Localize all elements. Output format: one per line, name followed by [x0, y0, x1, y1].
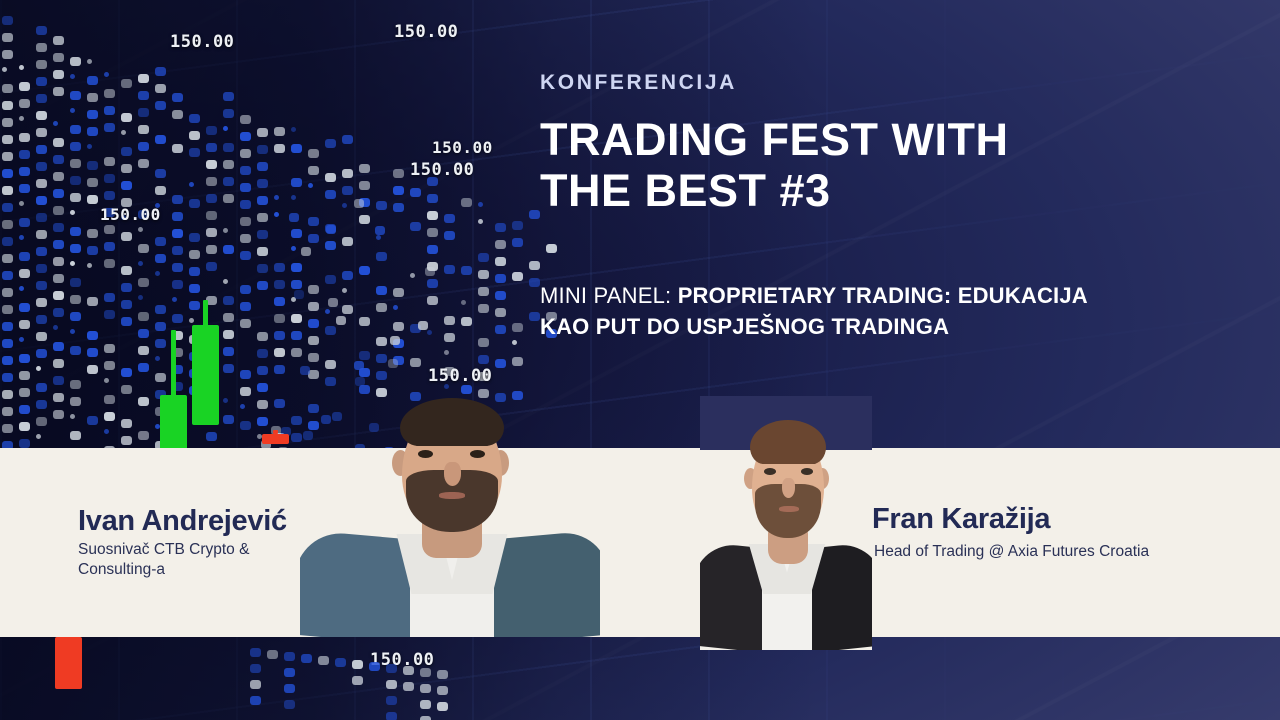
chart-dot: [104, 89, 115, 98]
candlestick-body: [55, 637, 82, 689]
chart-dot: [36, 213, 47, 222]
chart-dot: [53, 308, 64, 317]
chart-dot: [274, 348, 285, 357]
chart-dot: [257, 383, 268, 392]
chart-dot: [376, 354, 387, 363]
chart-dot: [19, 201, 24, 206]
chart-dot: [87, 229, 98, 238]
chart-dot: [172, 110, 183, 119]
chart-dot: [87, 110, 98, 119]
chart-dot: [155, 373, 166, 382]
chart-dot: [478, 355, 489, 364]
chart-dot: [420, 700, 431, 709]
chart-dot: [325, 360, 336, 369]
chart-dot: [172, 314, 183, 323]
headline-block: KONFERENCIJA TRADING FEST WITH THE BEST …: [540, 72, 1230, 217]
chart-dot: [478, 202, 483, 207]
chart-dot: [87, 263, 92, 268]
chart-dot: [70, 227, 81, 236]
chart-dot: [70, 125, 81, 134]
chart-dot: [291, 280, 302, 289]
chart-dot: [87, 195, 98, 204]
panel-label: MINI PANEL:: [540, 283, 671, 308]
chart-dot: [427, 228, 438, 237]
chart-dot: [138, 108, 149, 117]
chart-dot: [155, 135, 166, 144]
chart-dot: [53, 87, 64, 96]
chart-dot: [138, 295, 143, 300]
chart-dot: [138, 278, 149, 287]
chart-dot: [19, 65, 24, 70]
chart-dot: [172, 195, 183, 204]
chart-dot: [36, 383, 47, 392]
chart-dot: [121, 79, 132, 88]
chart-dot: [325, 139, 336, 148]
chart-dot: [138, 125, 149, 134]
chart-dot: [308, 183, 313, 188]
chart-dot: [36, 349, 47, 358]
chart-dot: [325, 241, 336, 250]
chart-dot: [257, 366, 268, 375]
chart-dot: [155, 84, 166, 93]
chart-dot: [36, 264, 47, 273]
chart-dot: [257, 417, 268, 426]
chart-dot: [53, 223, 64, 232]
chart-dot: [420, 716, 431, 720]
chart-dot: [206, 262, 217, 271]
chart-dot: [104, 174, 115, 183]
chart-dot: [53, 342, 64, 351]
chart-dot: [138, 227, 143, 232]
chart-dot: [376, 371, 387, 380]
chart-dot: [291, 144, 302, 153]
chart-dot: [104, 310, 115, 319]
chart-dot: [427, 279, 438, 288]
chart-dot: [328, 298, 338, 307]
chart-dot: [308, 353, 319, 362]
chart-dot: [223, 126, 228, 131]
chart-dot: [155, 356, 160, 361]
chart-dot: [240, 404, 245, 409]
chart-dot: [206, 160, 217, 169]
chart-dot: [495, 325, 506, 334]
chart-dot: [172, 229, 183, 238]
chart-dot: [70, 380, 81, 389]
chart-dot: [240, 166, 251, 175]
chart-dot: [104, 157, 115, 166]
chart-dot: [291, 348, 302, 357]
chart-dot: [104, 225, 115, 234]
chart-dot: [274, 127, 285, 136]
chart-dot: [70, 193, 81, 202]
chart-dot: [512, 221, 523, 230]
chart-dot: [223, 398, 228, 403]
chart-dot: [19, 167, 30, 176]
chart-dot: [53, 36, 64, 45]
chart-dot: [410, 273, 415, 278]
chart-dot: [121, 181, 132, 190]
chart-dot: [36, 298, 47, 307]
chart-dot: [284, 684, 295, 693]
chart-dot: [2, 271, 13, 280]
chart-dot: [19, 320, 30, 329]
chart-dot: [342, 186, 353, 195]
chart-dot: [386, 696, 397, 705]
chart-dot: [223, 364, 234, 373]
chart-dot: [444, 214, 455, 223]
chart-dot: [138, 363, 149, 372]
chart-dot: [121, 232, 132, 241]
chart-dot: [354, 199, 364, 208]
chart-dot: [121, 385, 132, 394]
chart-dot: [223, 109, 234, 118]
chart-dot: [206, 245, 217, 254]
price-label: 150.00: [432, 138, 493, 157]
chart-dot: [223, 143, 234, 152]
chart-dot: [189, 114, 200, 123]
chart-dot: [354, 361, 364, 370]
chart-dot: [2, 237, 13, 246]
chart-dot: [19, 116, 24, 121]
chart-dot: [53, 189, 64, 198]
candlestick-body: [160, 395, 187, 450]
chart-dot: [19, 82, 30, 91]
chart-dot: [240, 251, 251, 260]
chart-dot: [403, 682, 414, 691]
chart-dot: [388, 359, 398, 368]
chart-dot: [155, 67, 166, 76]
chart-dot: [386, 680, 397, 689]
chart-dot: [240, 285, 251, 294]
chart-dot: [529, 278, 540, 287]
chart-dot: [240, 421, 251, 430]
chart-dot: [2, 169, 13, 178]
chart-dot: [121, 147, 132, 156]
chart-dot: [274, 212, 279, 217]
chart-dot: [53, 376, 64, 385]
chart-dot: [359, 317, 370, 326]
chart-dot: [308, 336, 319, 345]
chart-dot: [2, 203, 13, 212]
chart-dot: [420, 668, 431, 677]
chart-dot: [512, 357, 523, 366]
chart-dot: [36, 366, 41, 371]
chart-dot: [121, 419, 132, 428]
chart-dot: [155, 339, 166, 348]
chart-dot: [53, 359, 64, 368]
chart-dot: [257, 264, 268, 273]
chart-dot: [36, 111, 47, 120]
chart-dot: [223, 313, 234, 322]
chart-dot: [70, 346, 81, 355]
chart-dot: [342, 169, 353, 178]
chart-dot: [70, 91, 81, 100]
chart-dot: [2, 84, 13, 93]
chart-dot: [2, 118, 13, 127]
panel-topic-line-2: KAO PUT DO USPJEŠNOG TRADINGA: [540, 311, 1240, 342]
chart-dot: [393, 186, 404, 195]
chart-dot: [70, 329, 75, 334]
chart-dot: [36, 162, 47, 171]
chart-dot: [250, 664, 261, 673]
chart-dot: [19, 303, 30, 312]
chart-dot: [19, 184, 30, 193]
chart-dot: [87, 178, 98, 187]
chart-dot: [138, 397, 149, 406]
chart-dot: [308, 149, 319, 158]
chart-dot: [326, 225, 336, 234]
speaker-2-name: Fran Karažija: [872, 503, 1050, 536]
chart-dot: [461, 300, 466, 305]
chart-dot: [87, 331, 98, 340]
chart-dot: [359, 266, 370, 275]
chart-dot: [19, 422, 30, 431]
chart-dot: [512, 340, 517, 345]
chart-dot: [53, 291, 64, 300]
chart-dot: [172, 297, 177, 302]
chart-dot: [386, 712, 397, 720]
chart-dot: [325, 377, 336, 386]
chart-dot: [420, 684, 431, 693]
chart-dot: [223, 279, 228, 284]
chart-dot: [121, 113, 132, 122]
chart-dot: [461, 317, 472, 326]
chart-dot: [19, 150, 30, 159]
chart-dot: [2, 220, 13, 229]
chart-dot: [155, 322, 166, 331]
chart-dot: [308, 234, 319, 243]
chart-dot: [444, 333, 455, 342]
speaker-1-role-line-1: Suosnivač CTB Crypto &: [78, 540, 310, 560]
chart-dot: [390, 336, 400, 345]
chart-dot: [53, 274, 64, 283]
chart-dot: [19, 371, 30, 380]
chart-dot: [376, 337, 387, 346]
chart-dot: [267, 650, 278, 659]
chart-dot: [121, 266, 132, 275]
chart-dot: [155, 271, 160, 276]
chart-dot: [250, 680, 261, 689]
chart-dot: [335, 658, 346, 667]
chart-dot: [53, 155, 64, 164]
chart-dot: [223, 415, 234, 424]
chart-dot: [300, 366, 310, 375]
chart-dot: [138, 346, 149, 355]
chart-dot: [70, 244, 81, 253]
chart-dot: [437, 702, 448, 711]
speaker-1-role: Suosnivač CTB Crypto & Consulting-a: [78, 540, 310, 579]
chart-dot: [257, 179, 268, 188]
chart-dot: [359, 351, 370, 360]
chart-dot: [206, 194, 217, 203]
chart-dot: [138, 261, 143, 266]
chart-dot: [36, 315, 47, 324]
chart-dot: [308, 370, 319, 379]
chart-dot: [495, 291, 506, 300]
chart-dot: [2, 339, 13, 348]
chart-dot: [386, 664, 397, 673]
chart-dot: [257, 247, 268, 256]
chart-dot: [70, 210, 75, 215]
chart-dot: [325, 190, 336, 199]
chart-dot: [427, 245, 438, 254]
chart-dot: [172, 93, 183, 102]
chart-dot: [19, 286, 24, 291]
chart-dot: [189, 131, 200, 140]
chart-dot: [274, 195, 279, 200]
chart-dot: [53, 393, 64, 402]
chart-dot: [36, 417, 47, 426]
chart-dot: [223, 330, 234, 339]
chart-dot: [2, 33, 13, 42]
chart-dot: [291, 195, 296, 200]
speaker-1-name: Ivan Andrejević: [78, 505, 287, 538]
chart-dot: [87, 93, 98, 102]
chart-dot: [189, 250, 200, 259]
chart-dot: [155, 237, 166, 246]
chart-dot: [240, 200, 251, 209]
chart-dot: [189, 199, 200, 208]
chart-dot: [70, 431, 81, 440]
chart-dot: [425, 267, 435, 276]
chart-dot: [172, 263, 183, 272]
chart-dot: [355, 377, 365, 386]
chart-dot: [342, 135, 353, 144]
chart-dot: [359, 181, 370, 190]
chart-dot: [369, 662, 380, 671]
chart-dot: [104, 259, 115, 268]
chart-dot: [53, 325, 58, 330]
chart-dot: [291, 229, 302, 238]
chart-dot: [19, 388, 30, 397]
chart-dot: [284, 668, 295, 677]
event-title: TRADING FEST WITH THE BEST #3: [540, 115, 1230, 217]
chart-dot: [36, 434, 41, 439]
chart-dot: [172, 144, 183, 153]
event-kicker: KONFERENCIJA: [540, 72, 1230, 93]
chart-dot: [2, 305, 13, 314]
chart-dot: [19, 439, 30, 448]
chart-dot: [206, 143, 217, 152]
chart-dot: [274, 399, 285, 408]
chart-dot: [172, 280, 183, 289]
chart-dot: [36, 60, 47, 69]
chart-dot: [53, 410, 64, 419]
chart-dot: [36, 26, 47, 35]
chart-dot: [36, 128, 47, 137]
chart-dot: [36, 332, 47, 341]
chart-dot: [529, 312, 540, 321]
chart-dot: [427, 296, 438, 305]
chart-dot: [138, 159, 149, 168]
chart-dot: [257, 162, 268, 171]
chart-dot: [308, 217, 319, 226]
chart-dot: [87, 348, 98, 357]
chart-dot: [104, 123, 115, 132]
chart-dot: [104, 429, 109, 434]
chart-dot: [87, 144, 92, 149]
chart-dot: [376, 235, 381, 240]
chart-dot: [138, 244, 149, 253]
event-title-line-2: THE BEST #3: [540, 166, 1230, 217]
chart-dot: [189, 301, 200, 310]
chart-dot: [70, 108, 75, 113]
chart-dot: [495, 274, 506, 283]
chart-dot: [155, 169, 166, 178]
chart-dot: [342, 271, 353, 280]
chart-dot: [375, 226, 385, 235]
chart-dot: [342, 203, 347, 208]
chart-dot: [172, 246, 183, 255]
chart-dot: [240, 319, 251, 328]
chart-dot: [461, 266, 472, 275]
chart-dot: [104, 242, 115, 251]
chart-dot: [70, 295, 81, 304]
chart-dot: [274, 365, 285, 374]
chart-dot: [53, 70, 64, 79]
chart-dot: [308, 302, 319, 311]
chart-dot: [359, 215, 370, 224]
chart-dot: [291, 331, 302, 340]
chart-dot: [2, 101, 13, 110]
chart-dot: [36, 281, 47, 290]
panel-topic-row-1: MINI PANEL: PROPRIETARY TRADING: EDUKACI…: [540, 280, 1240, 311]
chart-dot: [138, 431, 149, 440]
chart-dot: [418, 321, 428, 330]
chart-dot: [70, 142, 81, 151]
chart-dot: [257, 145, 268, 154]
chart-dot: [70, 312, 81, 321]
chart-dot: [19, 405, 30, 414]
chart-dot: [2, 254, 13, 263]
chart-dot: [2, 322, 13, 331]
chart-dot: [206, 126, 217, 135]
chart-dot: [240, 387, 251, 396]
chart-dot: [223, 296, 234, 305]
chart-dot: [240, 183, 251, 192]
price-label: 150.00: [410, 160, 474, 180]
chart-dot: [104, 361, 115, 370]
chart-dot: [325, 326, 336, 335]
chart-dot: [393, 288, 404, 297]
chart-dot: [444, 265, 455, 274]
chart-dot: [495, 240, 506, 249]
chart-dot: [206, 177, 217, 186]
chart-dot: [223, 177, 234, 186]
chart-dot: [53, 240, 64, 249]
chart-dot: [308, 285, 319, 294]
chart-dot: [410, 222, 421, 231]
chart-dot: [104, 191, 115, 200]
chart-dot: [291, 263, 302, 272]
chart-dot: [240, 149, 251, 158]
chart-dot: [104, 412, 115, 421]
chart-dot: [36, 43, 47, 52]
chart-dot: [223, 228, 228, 233]
chart-dot: [206, 211, 217, 220]
chart-dot: [19, 133, 30, 142]
chart-dot: [2, 135, 13, 144]
chart-dot: [495, 223, 506, 232]
candlestick-body: [192, 325, 219, 425]
chart-dot: [121, 283, 132, 292]
chart-dot: [352, 676, 363, 685]
chart-dot: [308, 166, 319, 175]
chart-dot: [257, 128, 268, 137]
chart-dot: [155, 254, 166, 263]
chart-dot: [189, 148, 200, 157]
chart-dot: [495, 308, 506, 317]
